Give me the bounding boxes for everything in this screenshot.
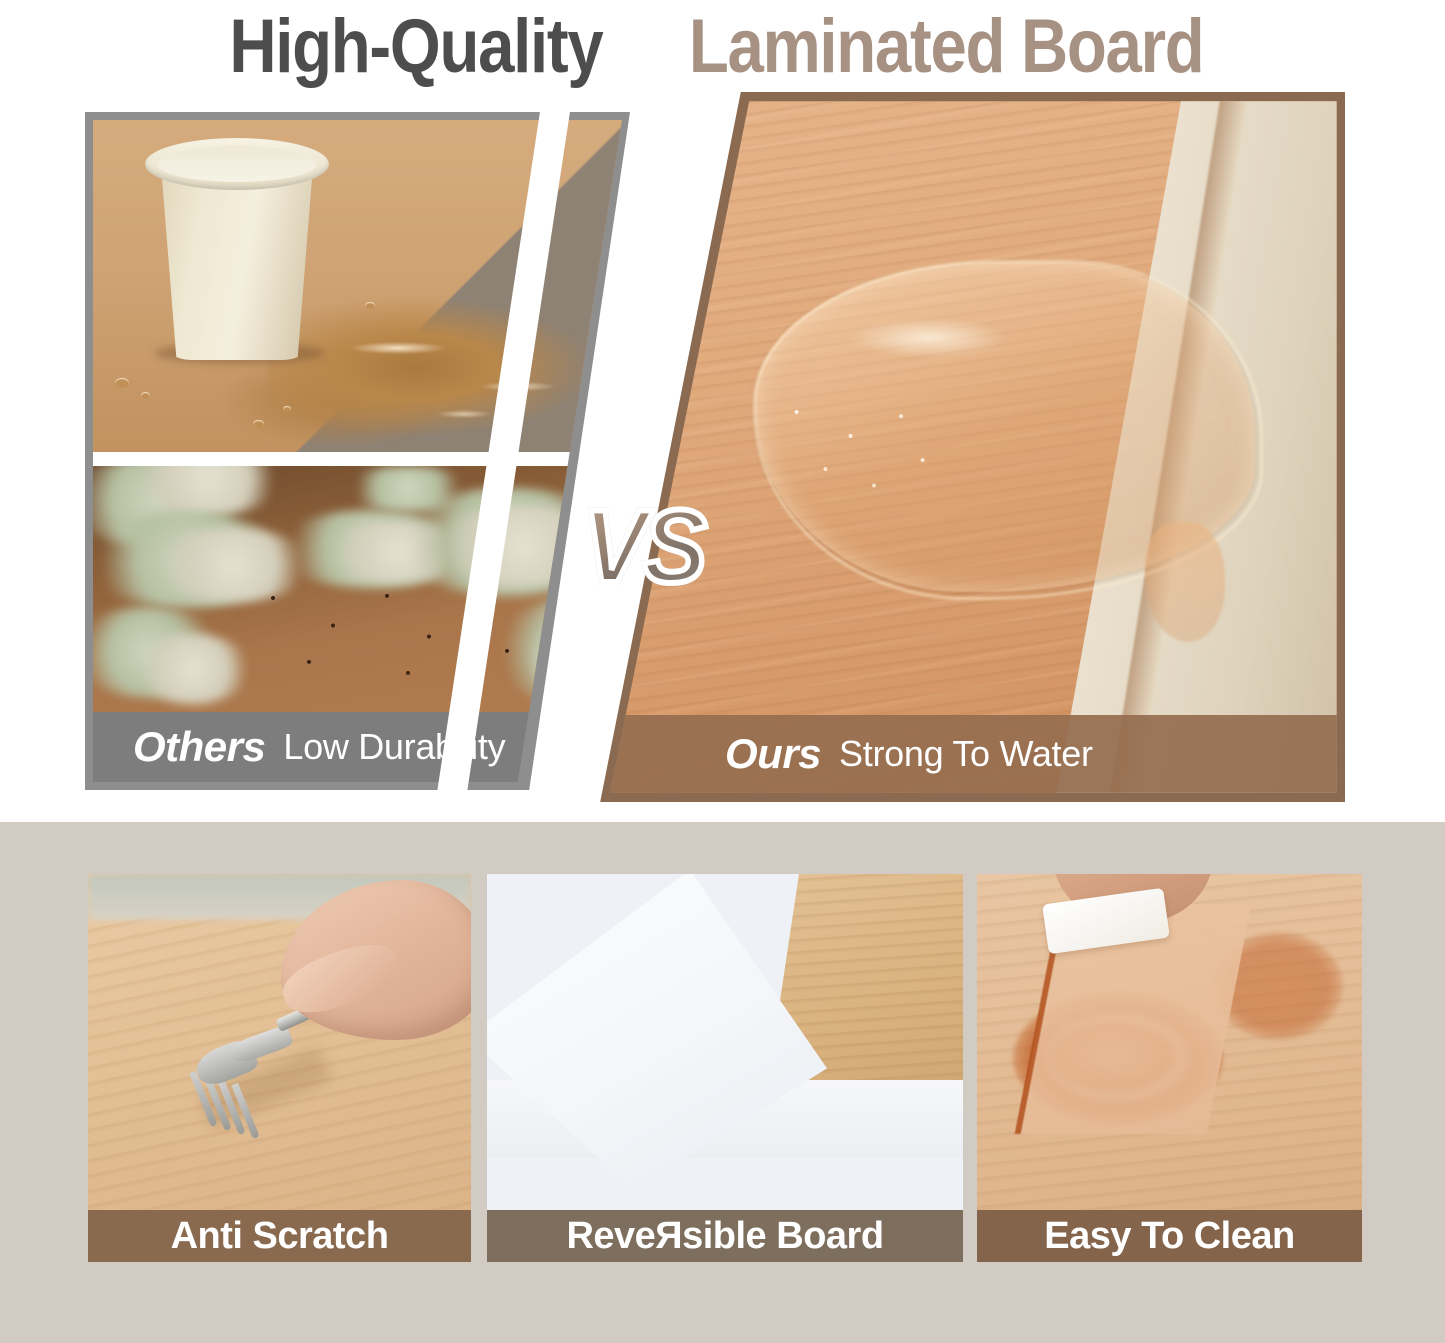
ours-title: Ours	[725, 730, 821, 778]
water-droplets	[775, 392, 955, 502]
spill-droplet	[283, 406, 291, 412]
water-highlight	[825, 302, 1085, 392]
page-title: High-Quality Laminated Board	[0, 0, 1445, 92]
easy-to-clean-label: Easy To Clean	[1044, 1215, 1294, 1258]
reversible-board-photo	[487, 874, 963, 1210]
page-title-part-2: Laminated Board	[689, 3, 1204, 90]
anti-scratch-photo	[88, 874, 471, 1210]
vs-badge: VS	[583, 488, 703, 607]
ours-panel: Ours Strong To Water	[585, 92, 1345, 802]
feature-card-reversible-board: ReveЯsible Board	[487, 874, 963, 1262]
anti-scratch-label-bar: Anti Scratch	[88, 1210, 471, 1262]
spill-droplet	[141, 392, 150, 399]
comparison-section: Others Low Durability	[0, 92, 1445, 822]
ours-water-photo	[585, 92, 1345, 802]
others-title: Others	[133, 723, 265, 771]
mold-specks	[243, 576, 543, 686]
others-caption-bar: Others Low Durability	[93, 712, 622, 782]
anti-scratch-label: Anti Scratch	[171, 1215, 389, 1258]
spill-droplet	[115, 378, 129, 388]
feature-card-anti-scratch: Anti Scratch	[88, 874, 471, 1262]
others-mold-photo	[93, 466, 622, 712]
spill-highlight	[308, 312, 608, 432]
paper-cup-opening	[157, 146, 317, 182]
photo-separator	[93, 452, 622, 466]
mold-patch	[343, 466, 473, 512]
features-section: Anti Scratch ReveЯsible Board	[0, 822, 1445, 1343]
reversible-board-label-bar: ReveЯsible Board	[487, 1210, 963, 1262]
easy-to-clean-photo	[977, 874, 1362, 1210]
spill-droplet	[365, 302, 375, 309]
page-title-part-1: High-Quality	[230, 3, 603, 90]
ours-caption-bar: Ours Strong To Water	[585, 715, 1345, 793]
ours-panel-inner: Ours Strong To Water	[585, 92, 1345, 802]
feature-card-easy-to-clean: Easy To Clean	[977, 874, 1362, 1262]
ours-subtitle: Strong To Water	[839, 733, 1093, 775]
easy-to-clean-label-bar: Easy To Clean	[977, 1210, 1362, 1262]
mold-patch	[133, 634, 253, 704]
reversible-board-label: ReveЯsible Board	[566, 1215, 883, 1258]
spill-droplet	[253, 420, 264, 428]
product-infographic: High-Quality Laminated Board	[0, 0, 1445, 1343]
